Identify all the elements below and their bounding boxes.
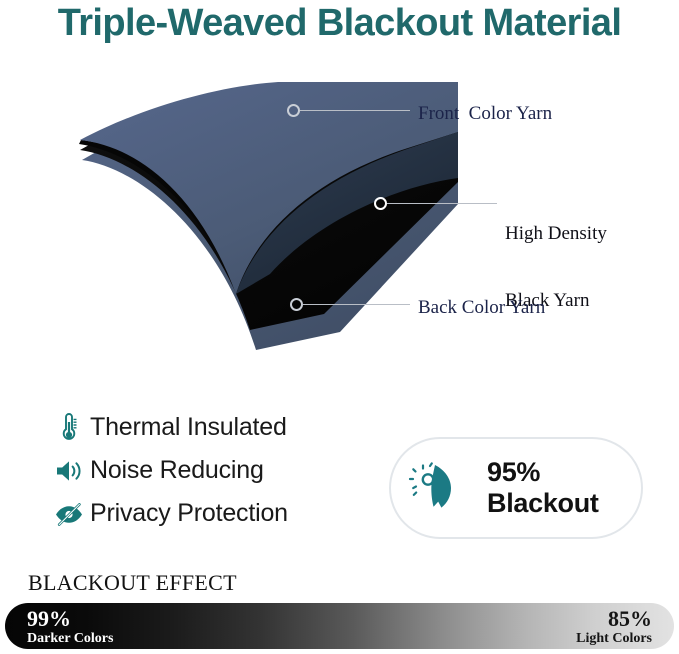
fabric-layers-svg	[78, 82, 458, 352]
blackout-effect-right-label: Light Colors	[576, 631, 652, 646]
callout-line-middle	[387, 203, 497, 204]
callout-line-back	[303, 304, 410, 305]
feature-label-thermal-insulated: Thermal Insulated	[90, 413, 287, 442]
callout-label-front: Front Color Yarn	[418, 103, 552, 125]
blackout-effect-left-percent: 99%	[27, 607, 113, 631]
eye-slash-icon	[48, 501, 90, 527]
callout-dot-back	[290, 298, 303, 311]
sun-behind-curtain-icon	[391, 458, 487, 518]
blackout-badge-text: 95% Blackout	[487, 457, 599, 519]
speaker-sound-icon	[48, 458, 90, 484]
feature-label-noise-reducing: Noise Reducing	[90, 456, 264, 485]
blackout-badge-label: Blackout	[487, 488, 599, 519]
blackout-effect-heading: BLACKOUT EFFECT	[28, 570, 237, 596]
feature-list: Thermal Insulated Noise Reducing Privacy…	[48, 406, 378, 535]
blackout-effect-right-group: 85% Light Colors	[576, 607, 652, 646]
blackout-effect-left-label: Darker Colors	[27, 631, 113, 646]
blackout-effect-right-percent: 85%	[576, 607, 652, 631]
blackout-effect-gradient-bar: 99% Darker Colors 85% Light Colors	[5, 603, 674, 649]
blackout-percentage-badge: 95% Blackout	[389, 437, 643, 539]
feature-item-privacy-protection: Privacy Protection	[48, 492, 378, 535]
feature-item-noise-reducing: Noise Reducing	[48, 449, 378, 492]
callout-label-middle-line1: High Density	[505, 223, 607, 245]
thermometer-icon	[48, 413, 90, 443]
callout-dot-middle	[374, 197, 387, 210]
feature-item-thermal-insulated: Thermal Insulated	[48, 406, 378, 449]
page-title: Triple-Weaved Blackout Material	[0, 2, 679, 45]
feature-label-privacy-protection: Privacy Protection	[90, 499, 288, 528]
blackout-badge-percent: 95%	[487, 457, 599, 488]
callout-label-back: Back Color Yarn	[418, 297, 545, 319]
callout-dot-front	[287, 104, 300, 117]
fabric-layers-illustration	[78, 82, 458, 352]
callout-line-front	[300, 110, 410, 111]
blackout-effect-left-group: 99% Darker Colors	[27, 607, 113, 646]
